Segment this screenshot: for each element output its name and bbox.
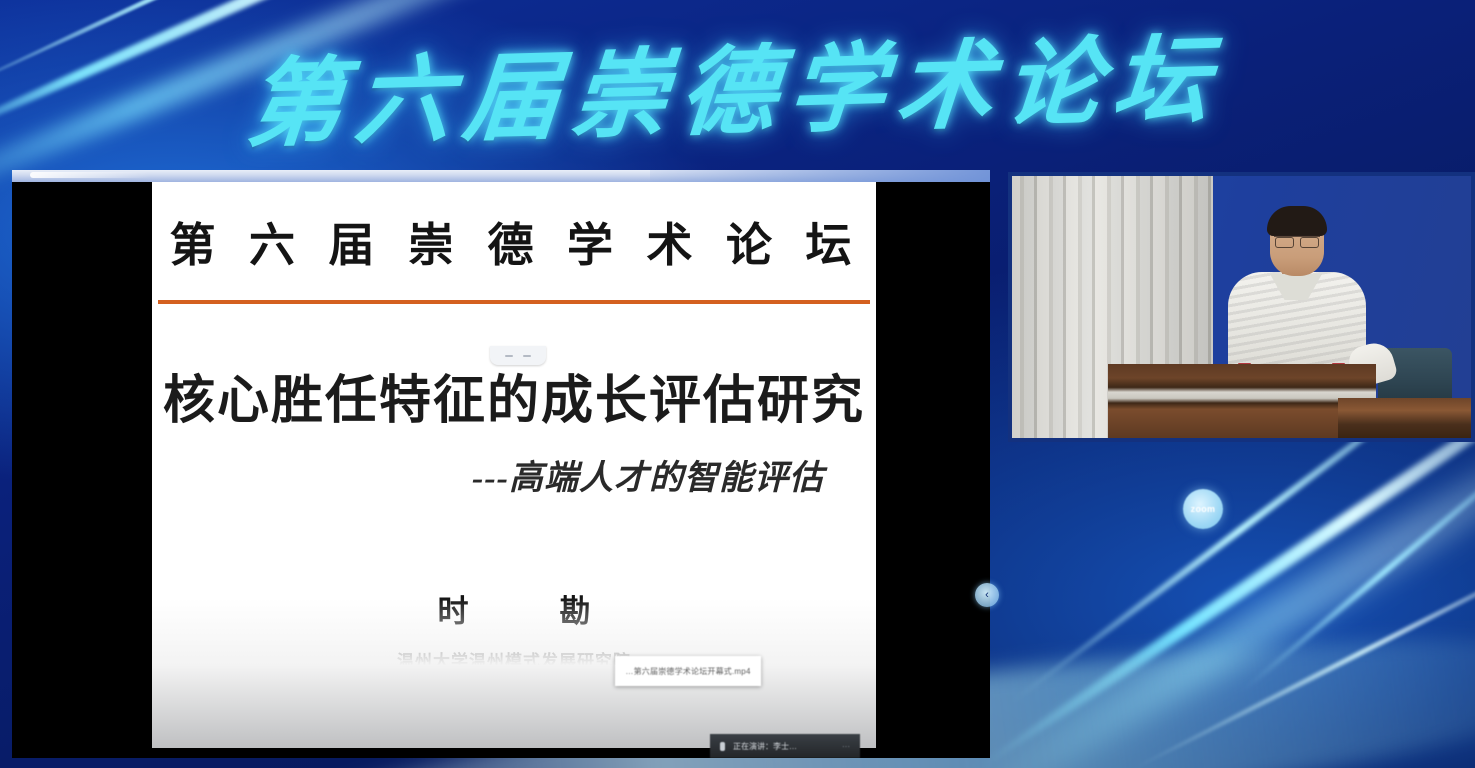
shared-window-titlebar bbox=[12, 170, 990, 182]
minimize-icon[interactable] bbox=[505, 355, 513, 357]
podium-side bbox=[1338, 398, 1475, 442]
titlebar-controls bbox=[30, 172, 150, 178]
shared-screen-panel[interactable]: 第 六 届 崇 德 学 术 论 坛 师范 核心胜任特征的成长评估研究 ---高端… bbox=[12, 170, 990, 758]
titlebar-right-fill bbox=[650, 170, 990, 182]
presentation-slide: 第 六 届 崇 德 学 术 论 坛 师范 核心胜任特征的成长评估研究 ---高端… bbox=[152, 182, 876, 748]
podium bbox=[1108, 364, 1376, 442]
slide-main-title: 核心胜任特征的成长评估研究 bbox=[152, 358, 876, 433]
slide-sub-title: ---高端人才的智能评估 bbox=[472, 450, 824, 499]
microphone-icon bbox=[720, 742, 725, 751]
restore-icon[interactable] bbox=[523, 355, 531, 357]
banner-title: 第六届崇德学术论坛 bbox=[218, 1, 1251, 167]
video-content bbox=[1008, 172, 1475, 442]
shared-screen-body: 第 六 届 崇 德 学 术 论 坛 师范 核心胜任特征的成长评估研究 ---高端… bbox=[12, 182, 990, 758]
zoom-watermark-icon: zoom bbox=[1183, 489, 1223, 529]
speaker-video-tile[interactable] bbox=[1008, 172, 1475, 442]
glasses-icon bbox=[1274, 235, 1320, 248]
slide-bottom-fade bbox=[152, 598, 876, 748]
speaker-figure bbox=[1222, 188, 1372, 388]
meeting-screenshot-root: 第六届崇德学术论坛 第 六 届 崇 德 学 术 论 坛 师范 核心胜任特征的 bbox=[0, 0, 1475, 768]
share-window-controls-tab[interactable] bbox=[490, 346, 546, 365]
event-banner: 第六届崇德学术论坛 bbox=[0, 0, 1475, 168]
presenting-status-text: 正在演讲：李士… bbox=[733, 741, 797, 752]
status-more-icon[interactable]: ··· bbox=[842, 742, 850, 751]
slide-header-title: 第 六 届 崇 德 学 术 论 坛 bbox=[170, 223, 863, 269]
speaker-hair bbox=[1267, 206, 1327, 236]
file-name-tooltip: …第六届崇德学术论坛开幕式.mp4 bbox=[615, 656, 761, 686]
slide-header: 第 六 届 崇 德 学 术 论 坛 师范 bbox=[152, 198, 876, 294]
slide-divider-rule bbox=[158, 300, 870, 304]
chevron-left-icon[interactable]: ‹ bbox=[975, 583, 999, 607]
presenting-status-bar[interactable]: 正在演讲：李士… ··· bbox=[710, 734, 860, 758]
